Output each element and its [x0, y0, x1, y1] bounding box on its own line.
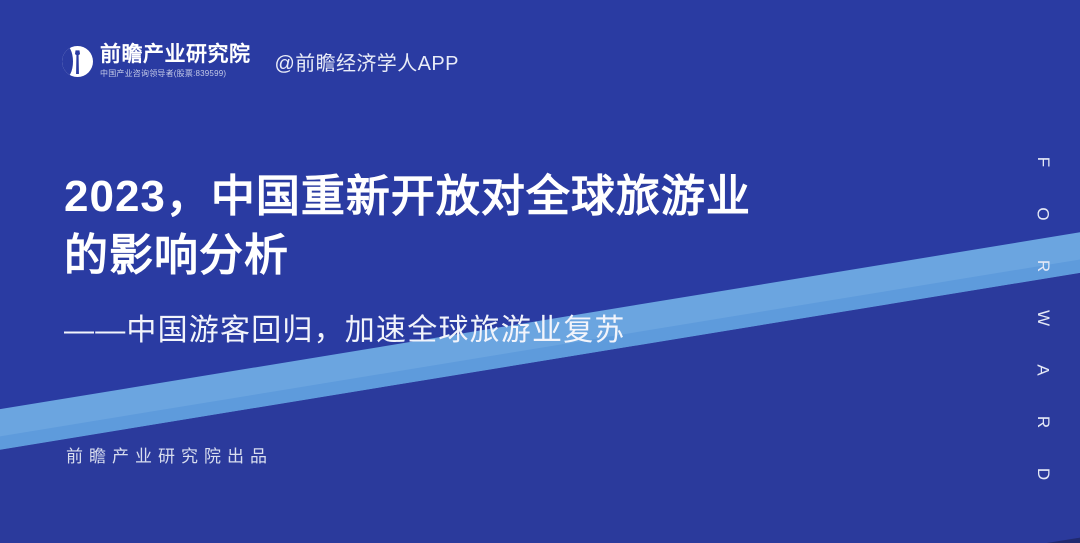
publisher-credit: 前瞻产业研究院出品 — [66, 442, 273, 467]
rail-letter: R — [1018, 260, 1070, 272]
logo-text-column: 前瞻产业研究院 中国产业咨询领导者(股票:839599) — [100, 44, 251, 80]
page-title: 2023，中国重新开放对全球旅游业 的影响分析 — [64, 168, 751, 285]
logo-subtitle: 中国产业咨询领导者(股票:839599) — [100, 68, 251, 80]
rail-letter: O — [1018, 207, 1070, 220]
lighthouse-tower-icon — [62, 46, 93, 77]
logo-lockup: 前瞻产业研究院 中国产业咨询领导者(股票:839599) — [62, 44, 251, 80]
poster-canvas: 前瞻产业研究院 中国产业咨询领导者(股票:839599) @前瞻经济学人APP … — [0, 0, 1080, 543]
vertical-wordmark-rail: F O R W A R D — [1036, 136, 1052, 500]
page-subtitle: ——中国游客回归，加速全球旅游业复苏 — [64, 311, 751, 350]
brand-header: 前瞻产业研究院 中国产业咨询领导者(股票:839599) @前瞻经济学人APP — [62, 44, 459, 80]
rail-letter: F — [1018, 157, 1070, 167]
rail-letter: W — [1018, 310, 1070, 326]
app-handle: @前瞻经济学人APP — [275, 47, 459, 76]
logo-name: 前瞻产业研究院 — [100, 44, 251, 67]
headline-block: 2023，中国重新开放对全球旅游业 的影响分析 ——中国游客回归，加速全球旅游业… — [64, 168, 751, 350]
rail-letter: A — [1018, 364, 1070, 375]
rail-letter: D — [1018, 468, 1070, 480]
rail-letter: R — [1018, 416, 1070, 428]
